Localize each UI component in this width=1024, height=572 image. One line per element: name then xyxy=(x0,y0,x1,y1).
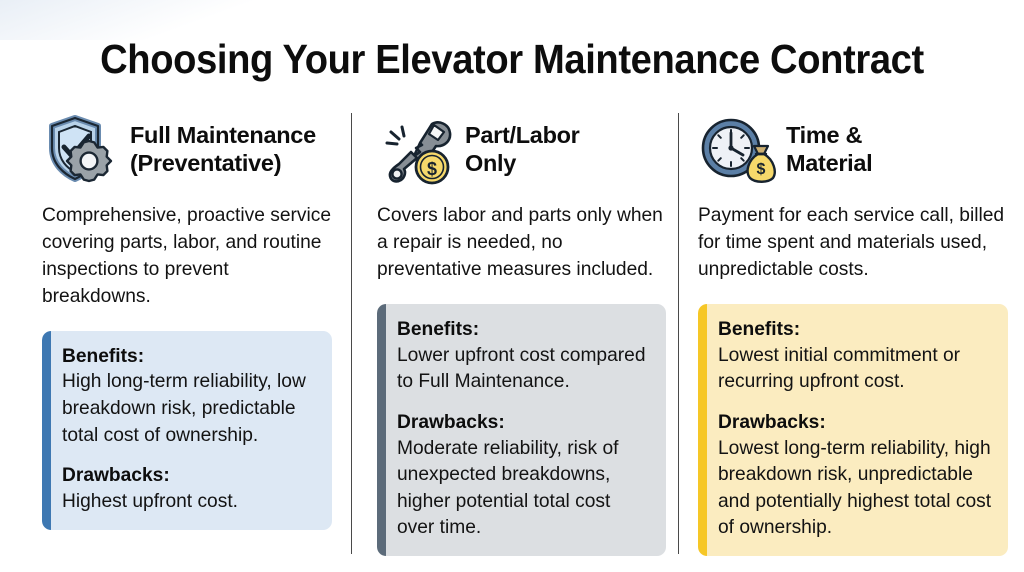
drawbacks-label: Drawbacks: xyxy=(718,410,994,436)
column-header: $ Time & Material xyxy=(698,113,1008,187)
column-title: Part/Labor Only xyxy=(465,122,580,177)
clock-money-bag-icon: $ xyxy=(698,114,776,186)
column-time-and-material: $ Time & Material Payment for each servi… xyxy=(678,113,1024,559)
column-description: Comprehensive, proactive service coverin… xyxy=(42,203,332,311)
column-description: Covers labor and parts only when a repai… xyxy=(377,203,666,284)
column-description: Payment for each service call, billed fo… xyxy=(698,203,1008,284)
column-header: $ Part/Labor Only xyxy=(377,113,666,187)
column-title-line2: (Preventative) xyxy=(130,150,316,178)
benefits-label: Benefits: xyxy=(397,317,652,343)
drawbacks-text: Lowest long-term reliability, high break… xyxy=(718,436,994,542)
accent-bar xyxy=(42,331,51,530)
benefits-label: Benefits: xyxy=(718,317,994,343)
corner-tint xyxy=(0,0,260,40)
broken-wrench-coin-icon: $ xyxy=(377,114,455,186)
column-title: Time & Material xyxy=(786,122,872,177)
drawbacks-label: Drawbacks: xyxy=(397,410,652,436)
column-title-line1: Time & xyxy=(786,122,872,150)
accent-bar xyxy=(377,304,386,556)
box-spacer xyxy=(718,396,994,410)
column-title-line2: Material xyxy=(786,150,872,178)
benefits-drawbacks-box: Benefits: High long-term reliability, lo… xyxy=(42,331,332,530)
column-title-line1: Part/Labor xyxy=(465,122,580,150)
column-full-maintenance: Full Maintenance (Preventative) Comprehe… xyxy=(0,113,351,559)
column-part-labor-only: $ Part/Labor Only Covers labor and parts… xyxy=(351,113,678,559)
benefits-text: High long-term reliability, low breakdow… xyxy=(62,369,318,449)
column-title: Full Maintenance (Preventative) xyxy=(130,122,316,177)
benefits-text: Lower upfront cost compared to Full Main… xyxy=(397,343,652,396)
column-title-line1: Full Maintenance xyxy=(130,122,316,150)
benefits-drawbacks-box: Benefits: Lower upfront cost compared to… xyxy=(377,304,666,556)
column-title-line2: Only xyxy=(465,150,580,178)
drawbacks-text: Highest upfront cost. xyxy=(62,489,318,516)
drawbacks-label: Drawbacks: xyxy=(62,463,318,489)
benefits-label: Benefits: xyxy=(62,344,318,370)
benefits-drawbacks-box: Benefits: Lowest initial commitment or r… xyxy=(698,304,1008,556)
benefits-text: Lowest initial commitment or recurring u… xyxy=(718,343,994,396)
column-header: Full Maintenance (Preventative) xyxy=(42,113,332,187)
comparison-columns: Full Maintenance (Preventative) Comprehe… xyxy=(0,113,1024,559)
svg-text:$: $ xyxy=(757,161,766,178)
page-title: Choosing Your Elevator Maintenance Contr… xyxy=(36,36,988,83)
svg-text:$: $ xyxy=(427,159,437,179)
box-spacer xyxy=(397,396,652,410)
drawbacks-text: Moderate reliability, risk of unexpected… xyxy=(397,436,652,542)
accent-bar xyxy=(698,304,707,556)
shield-check-gear-icon xyxy=(42,114,120,186)
box-spacer xyxy=(62,449,318,463)
